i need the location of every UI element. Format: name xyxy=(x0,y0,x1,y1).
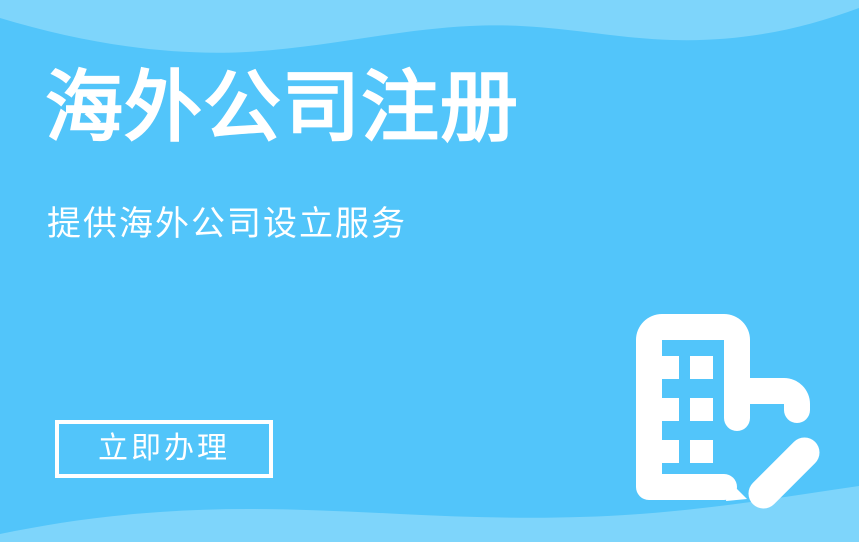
page-subtitle: 提供海外公司设立服务 xyxy=(47,204,407,245)
promo-banner: 海外公司注册 提供海外公司设立服务 立即办理 xyxy=(0,0,859,542)
page-title: 海外公司注册 xyxy=(45,68,519,146)
banner-content: 海外公司注册 提供海外公司设立服务 立即办理 xyxy=(45,0,605,542)
building-with-pencil-icon xyxy=(608,300,828,520)
apply-now-button[interactable]: 立即办理 xyxy=(55,420,273,478)
